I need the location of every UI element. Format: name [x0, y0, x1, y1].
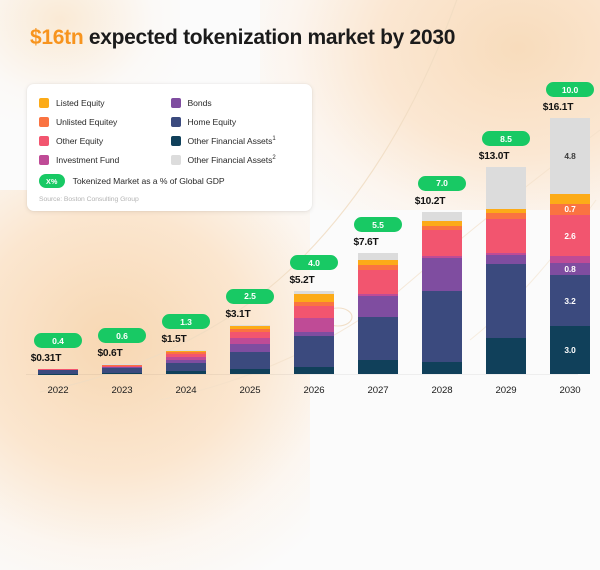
x-axis-tick-label: 2028: [410, 385, 474, 396]
legend-footnote-marker: 2: [272, 155, 275, 161]
gdp-pill-badge: X%: [39, 174, 65, 188]
bar-stack[interactable]: [486, 167, 526, 374]
legend-item[interactable]: Other Equity: [39, 132, 171, 149]
bar-stack[interactable]: 4.80.72.60.83.23.0: [550, 118, 590, 374]
x-axis-tick-label: 2027: [346, 385, 410, 396]
bar-segment[interactable]: [486, 338, 526, 374]
legend-column-right: BondsHome EquityOther Financial Assets1O…: [171, 94, 303, 170]
legend-item-label: Other Equity: [56, 136, 103, 146]
legend-swatch-icon: [171, 117, 181, 127]
legend-item[interactable]: Other Financial Assets1: [171, 132, 303, 149]
legend-item-label: Investment Fund: [56, 155, 119, 165]
legend-item-label: Other Financial Assets2: [188, 155, 276, 165]
bar-segment-value: 3.0: [550, 346, 590, 354]
legend-item-label: Listed Equity: [56, 98, 105, 108]
bar-segment-value: 3.2: [550, 297, 590, 305]
bar[interactable]: [486, 167, 526, 374]
bar-segment[interactable]: 4.8: [550, 118, 590, 194]
page-title: $16tn expected tokenization market by 20…: [30, 26, 455, 50]
legend-item-label: Other Financial Assets1: [188, 136, 276, 146]
gdp-percent-badge[interactable]: 7.0: [418, 176, 466, 191]
x-axis-tick-label: 2026: [282, 385, 346, 396]
bar[interactable]: [230, 325, 270, 374]
legend-swatch-icon: [171, 155, 181, 165]
bar-segment[interactable]: [422, 212, 462, 222]
bar-segment[interactable]: [294, 367, 334, 374]
bar-segment-value: 0.8: [550, 265, 590, 273]
legend-item[interactable]: Home Equity: [171, 113, 303, 130]
legend-item[interactable]: Unlisted Equitey: [39, 113, 171, 130]
bar-segment[interactable]: [486, 219, 526, 253]
bar-segment[interactable]: 0.8: [550, 263, 590, 276]
bar-column[interactable]: $13.0T8.52029: [474, 0, 538, 400]
legend-swatch-icon: [39, 117, 49, 127]
bar-total-label: $7.6T: [334, 237, 398, 248]
bar-segment[interactable]: [358, 296, 398, 317]
bar-segment[interactable]: [294, 294, 334, 303]
bar-segment[interactable]: [486, 255, 526, 265]
title-accent: $16tn: [30, 26, 83, 49]
bar-segment[interactable]: [422, 258, 462, 291]
x-axis-tick-label: 2024: [154, 385, 218, 396]
bar-segment[interactable]: [230, 352, 270, 369]
bar-segment[interactable]: [550, 194, 590, 204]
gdp-percent-badge[interactable]: 10.0: [546, 82, 594, 97]
bar-segment[interactable]: [358, 360, 398, 374]
bar-column[interactable]: 4.80.72.60.83.23.0$16.1T10.02030: [538, 0, 600, 400]
bar-total-label: $16.1T: [526, 102, 590, 113]
x-axis-tick-label: 2025: [218, 385, 282, 396]
bar-segment[interactable]: [166, 371, 206, 374]
bar-segment-value: 2.6: [550, 231, 590, 239]
bar-segment[interactable]: [358, 270, 398, 295]
bar[interactable]: [294, 291, 334, 374]
bar[interactable]: [38, 369, 78, 374]
x-axis-tick-label: 2030: [538, 385, 600, 396]
bar-segment[interactable]: [294, 336, 334, 367]
legend-item-label: Home Equity: [188, 117, 237, 127]
bar-total-label: $5.2T: [270, 275, 334, 286]
bar-total-label: $13.0T: [462, 151, 526, 162]
gdp-percent-badge[interactable]: 0.6: [98, 328, 146, 343]
legend-card: Listed EquityUnlisted EquiteyOther Equit…: [27, 84, 312, 211]
legend-item[interactable]: Other Financial Assets2: [171, 151, 303, 168]
gdp-percent-badge[interactable]: 1.3: [162, 314, 210, 329]
gdp-percent-badge[interactable]: 8.5: [482, 131, 530, 146]
gdp-percent-badge[interactable]: 4.0: [290, 255, 338, 270]
bar-segment[interactable]: [102, 373, 142, 374]
bar-stack[interactable]: [166, 350, 206, 374]
bar-segment[interactable]: [358, 317, 398, 360]
bar-segment[interactable]: [166, 363, 206, 371]
bar-stack[interactable]: [230, 325, 270, 374]
bar-segment[interactable]: [422, 362, 462, 374]
legend-swatch-icon: [39, 155, 49, 165]
bar-column[interactable]: $10.2T7.02028: [410, 0, 474, 400]
gdp-pill-description: Tokenized Market as a % of Global GDP: [73, 176, 225, 186]
bar-stack[interactable]: [422, 212, 462, 374]
bar-segment[interactable]: [230, 344, 270, 352]
legend-item[interactable]: Bonds: [171, 94, 303, 111]
bar-segment[interactable]: [486, 167, 526, 208]
bar-segment[interactable]: [294, 318, 334, 332]
x-axis-tick-label: 2022: [26, 385, 90, 396]
bar-segment[interactable]: 0.7: [550, 204, 590, 215]
legend-gdp-row: X% Tokenized Market as a % of Global GDP: [39, 174, 302, 188]
bar[interactable]: 4.80.72.60.83.23.0: [550, 118, 590, 374]
bar-total-label: $0.31T: [14, 353, 78, 364]
legend-item-label: Unlisted Equitey: [56, 117, 117, 127]
bar-stack[interactable]: [38, 369, 78, 374]
legend-item[interactable]: Listed Equity: [39, 94, 171, 111]
bar-segment[interactable]: [294, 306, 334, 319]
bar-segment[interactable]: [486, 264, 526, 338]
gdp-percent-badge[interactable]: 5.5: [354, 217, 402, 232]
bar[interactable]: [422, 212, 462, 374]
legend-swatch-icon: [39, 98, 49, 108]
bar-segment[interactable]: 3.0: [550, 326, 590, 374]
legend-footnote-marker: 1: [272, 136, 275, 142]
bar[interactable]: [102, 364, 142, 374]
bar-segment[interactable]: 2.6: [550, 215, 590, 256]
legend-swatch-icon: [39, 136, 49, 146]
bar-segment[interactable]: 3.2: [550, 275, 590, 326]
bar-segment[interactable]: [230, 369, 270, 374]
bar-segment[interactable]: [358, 253, 398, 260]
gdp-percent-badge[interactable]: 0.4: [34, 333, 82, 348]
bar-stack[interactable]: [358, 253, 398, 374]
bar-segment[interactable]: [422, 230, 462, 256]
legend-columns: Listed EquityUnlisted EquiteyOther Equit…: [39, 94, 302, 170]
bar-segment[interactable]: [422, 291, 462, 363]
bar[interactable]: [166, 350, 206, 374]
legend-swatch-icon: [171, 98, 181, 108]
bar-total-label: $3.1T: [206, 309, 270, 320]
title-rest: expected tokenization market by 2030: [83, 26, 455, 49]
bar-segment-value: 0.7: [550, 205, 590, 213]
bar-total-label: $1.5T: [142, 334, 206, 345]
bar[interactable]: [358, 253, 398, 374]
legend-item-label: Bonds: [188, 98, 212, 108]
bar-stack[interactable]: [294, 291, 334, 374]
bar-segment-value: 4.8: [550, 152, 590, 160]
gdp-percent-badge[interactable]: 2.5: [226, 289, 274, 304]
legend-column-left: Listed EquityUnlisted EquiteyOther Equit…: [39, 94, 171, 170]
legend-item[interactable]: Investment Fund: [39, 151, 171, 168]
bar-total-label: $10.2T: [398, 196, 462, 207]
x-axis-tick-label: 2023: [90, 385, 154, 396]
legend-swatch-icon: [171, 136, 181, 146]
bar-total-label: $0.6T: [78, 348, 142, 359]
x-axis-tick-label: 2029: [474, 385, 538, 396]
bar-stack[interactable]: [102, 364, 142, 374]
source-note: Source: Boston Consulting Group: [39, 196, 302, 203]
